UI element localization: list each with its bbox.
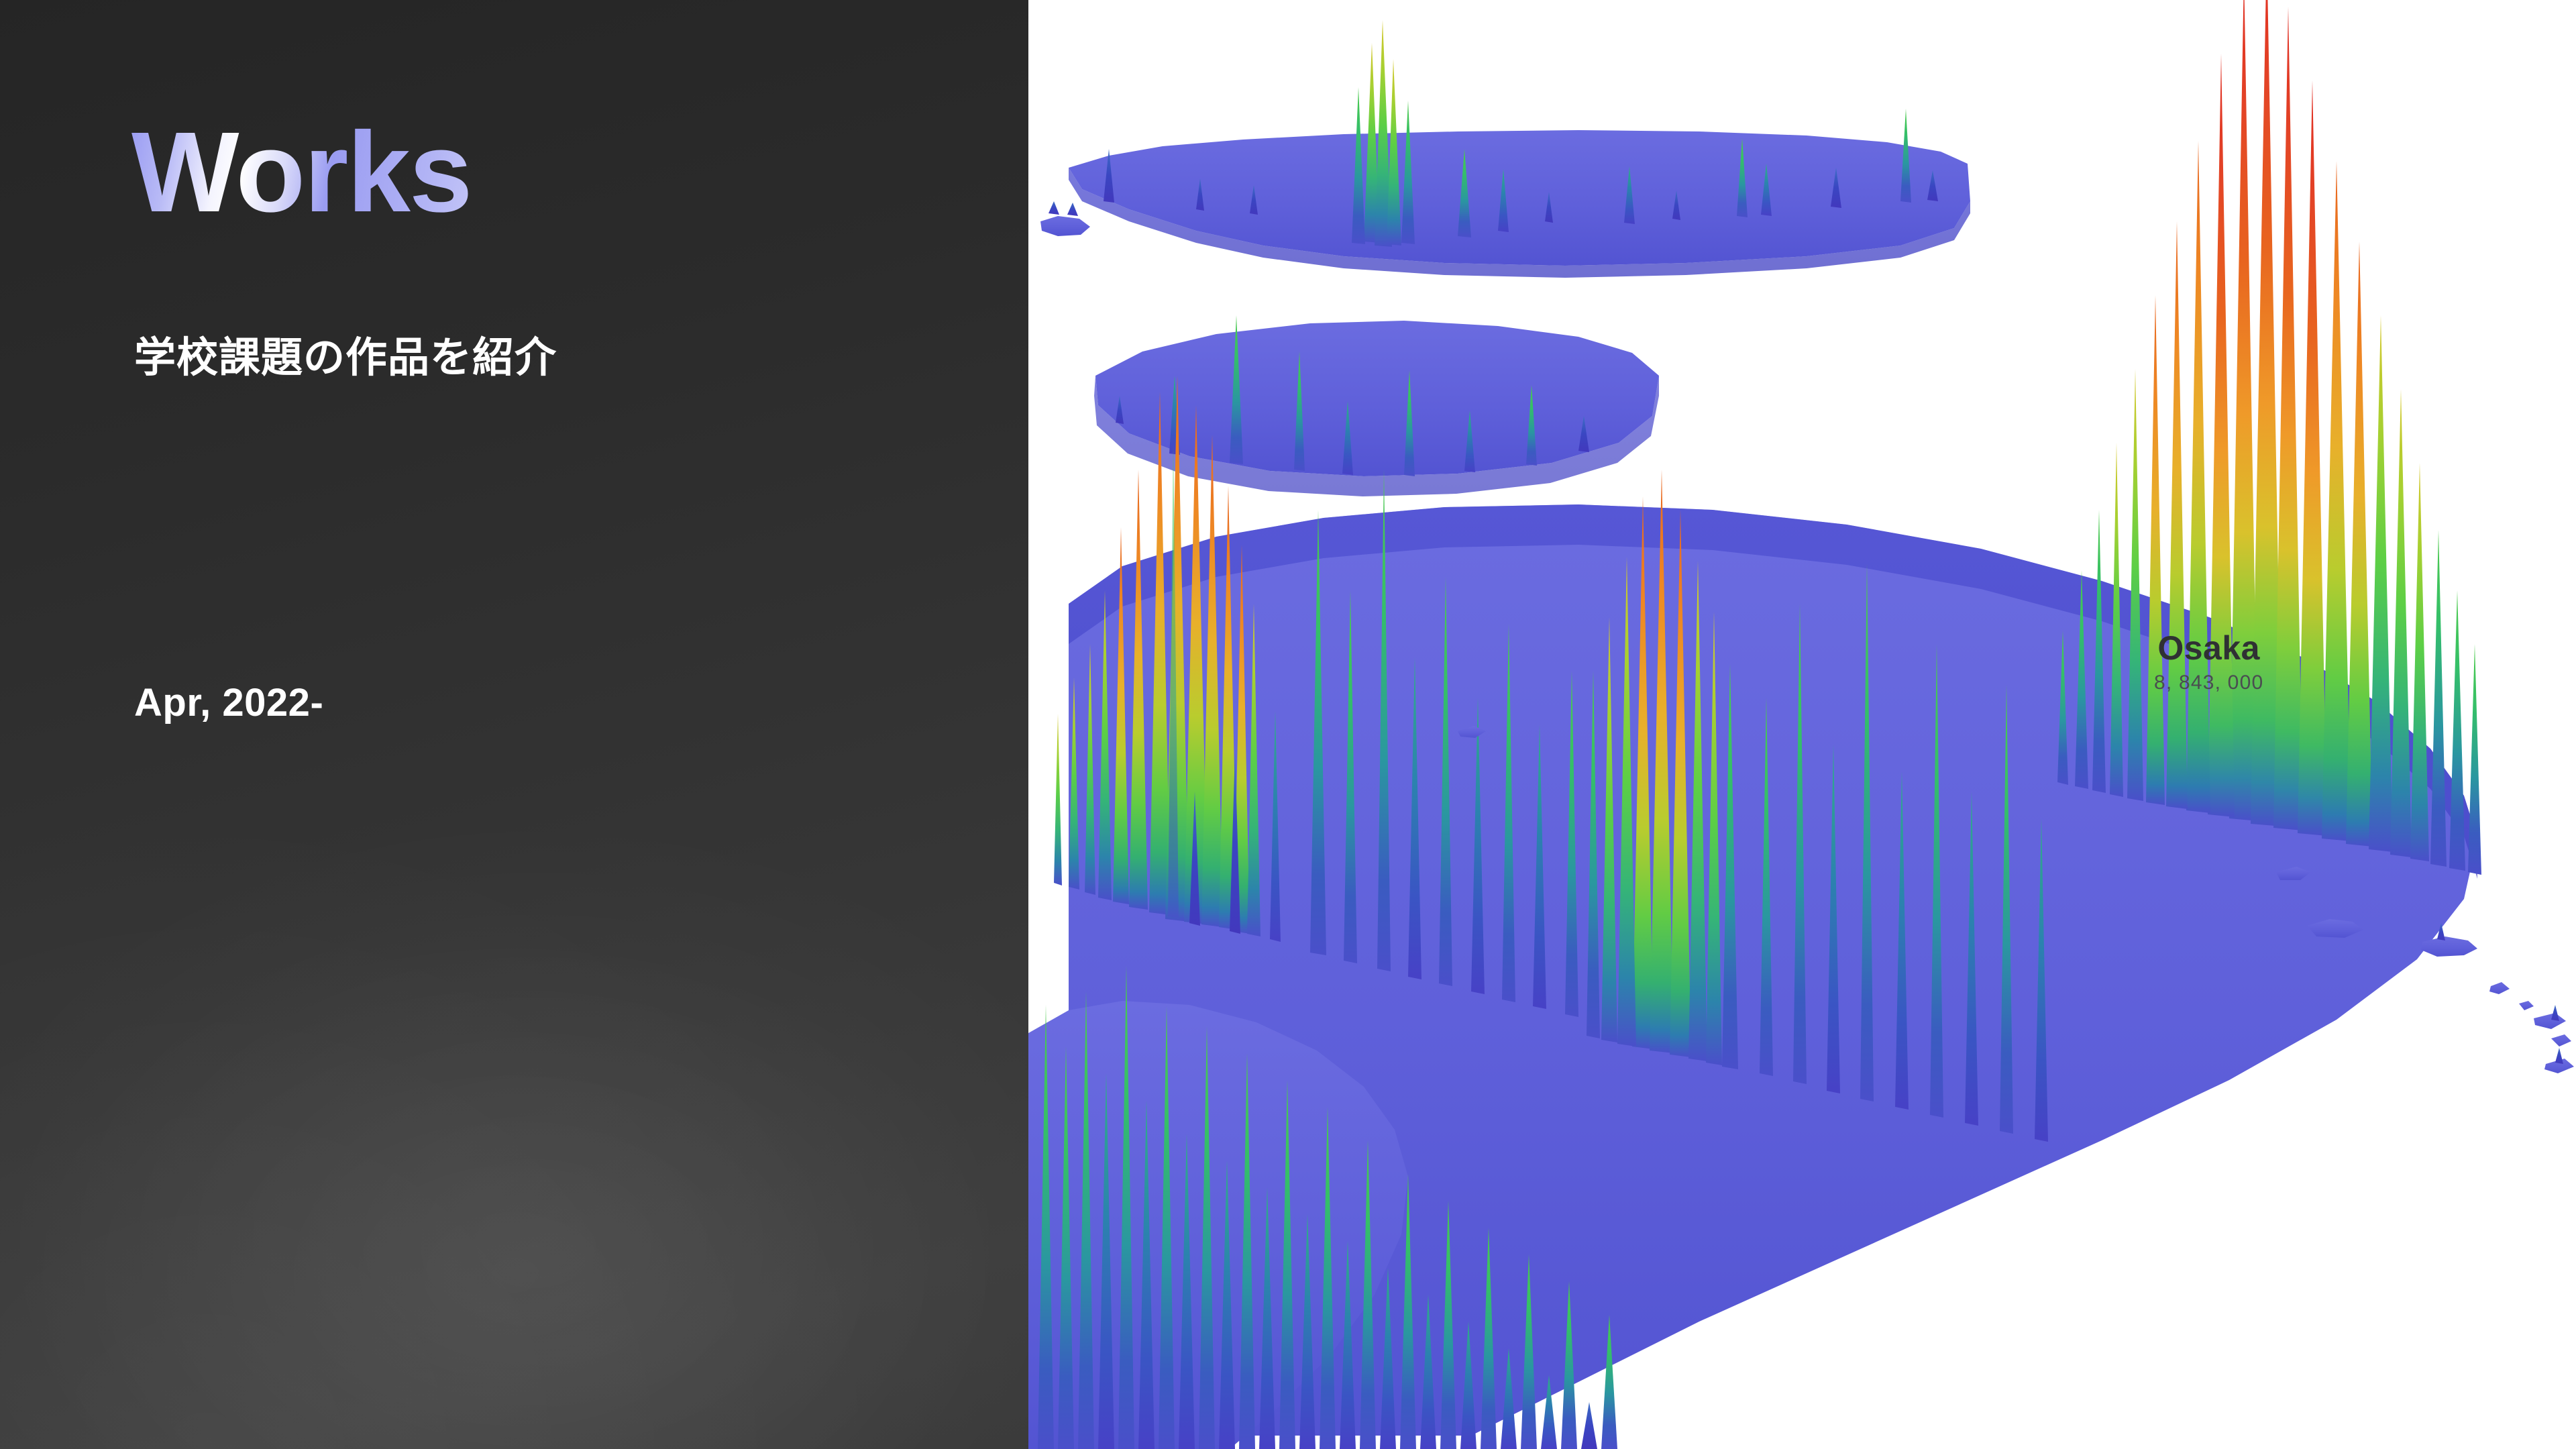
presentation-slide: Works 学校課題の作品を紹介 Apr, 2022- bbox=[0, 0, 2576, 1449]
annotation-osaka-name: Osaka bbox=[2154, 631, 2263, 666]
slide-left-panel: Works 学校課題の作品を紹介 Apr, 2022- bbox=[0, 0, 1028, 1449]
annotation-osaka: Osaka 8, 843, 000 bbox=[2154, 631, 2263, 695]
annotation-osaka-value: 8, 843, 000 bbox=[2154, 670, 2263, 696]
japan-population-surface bbox=[1028, 0, 2576, 1449]
page-title: Works bbox=[131, 115, 471, 229]
slide-subtitle: 学校課題の作品を紹介 bbox=[134, 323, 557, 384]
slide-date: Apr, 2022- bbox=[134, 680, 323, 725]
region-izu-islands bbox=[2421, 923, 2574, 1073]
region-hokkaido bbox=[1040, 20, 1970, 278]
peak-tokyo bbox=[2057, 0, 2481, 875]
population-density-chart: Tokyo 140, 650,00 Osaka 8, 843, 000 Aich… bbox=[1028, 0, 2576, 1449]
